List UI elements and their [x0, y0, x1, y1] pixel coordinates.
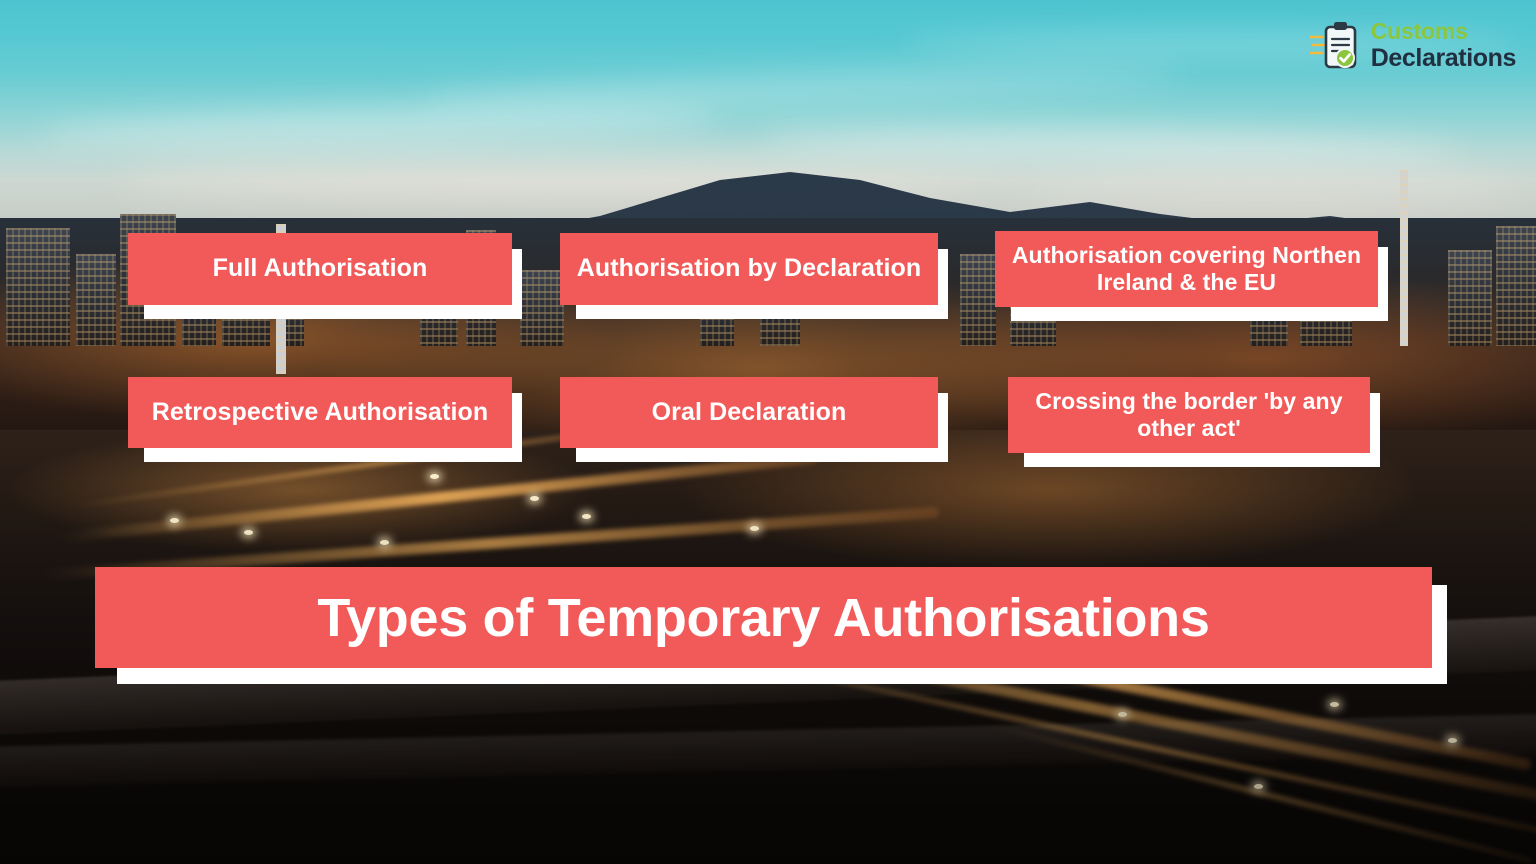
logo-word-customs: Customs	[1371, 20, 1516, 43]
card-label: Full Authorisation	[213, 254, 428, 284]
slide-title-banner: Types of Temporary Authorisations	[95, 567, 1432, 668]
card-label: Retrospective Authorisation	[152, 398, 489, 428]
card-authorisation-northern-ireland-eu[interactable]: Authorisation covering Northen Ireland &…	[995, 231, 1378, 307]
logo-word-declarations: Declarations	[1371, 46, 1516, 71]
card-oral-declaration[interactable]: Oral Declaration	[560, 377, 938, 448]
card-authorisation-by-declaration[interactable]: Authorisation by Declaration	[560, 233, 938, 305]
presentation-slide: Full Authorisation Authorisation by Decl…	[0, 0, 1536, 864]
customs-declarations-logo[interactable]: Customs Declarations	[1310, 18, 1516, 72]
card-label: Crossing the border 'by any other act'	[1022, 388, 1356, 442]
card-crossing-the-border[interactable]: Crossing the border 'by any other act'	[1008, 377, 1370, 453]
clipboard-check-icon	[1310, 18, 1362, 72]
logo-wordmark: Customs Declarations	[1371, 20, 1516, 71]
card-label: Authorisation covering Northen Ireland &…	[1009, 242, 1364, 296]
card-label: Oral Declaration	[652, 398, 847, 428]
cloud-streak-icon	[420, 59, 1181, 116]
cloud-streak-icon	[40, 99, 721, 153]
card-retrospective-authorisation[interactable]: Retrospective Authorisation	[128, 377, 512, 448]
page-title: Types of Temporary Authorisations	[317, 587, 1209, 649]
card-label: Authorisation by Declaration	[577, 254, 922, 284]
card-full-authorisation[interactable]: Full Authorisation	[128, 233, 512, 305]
